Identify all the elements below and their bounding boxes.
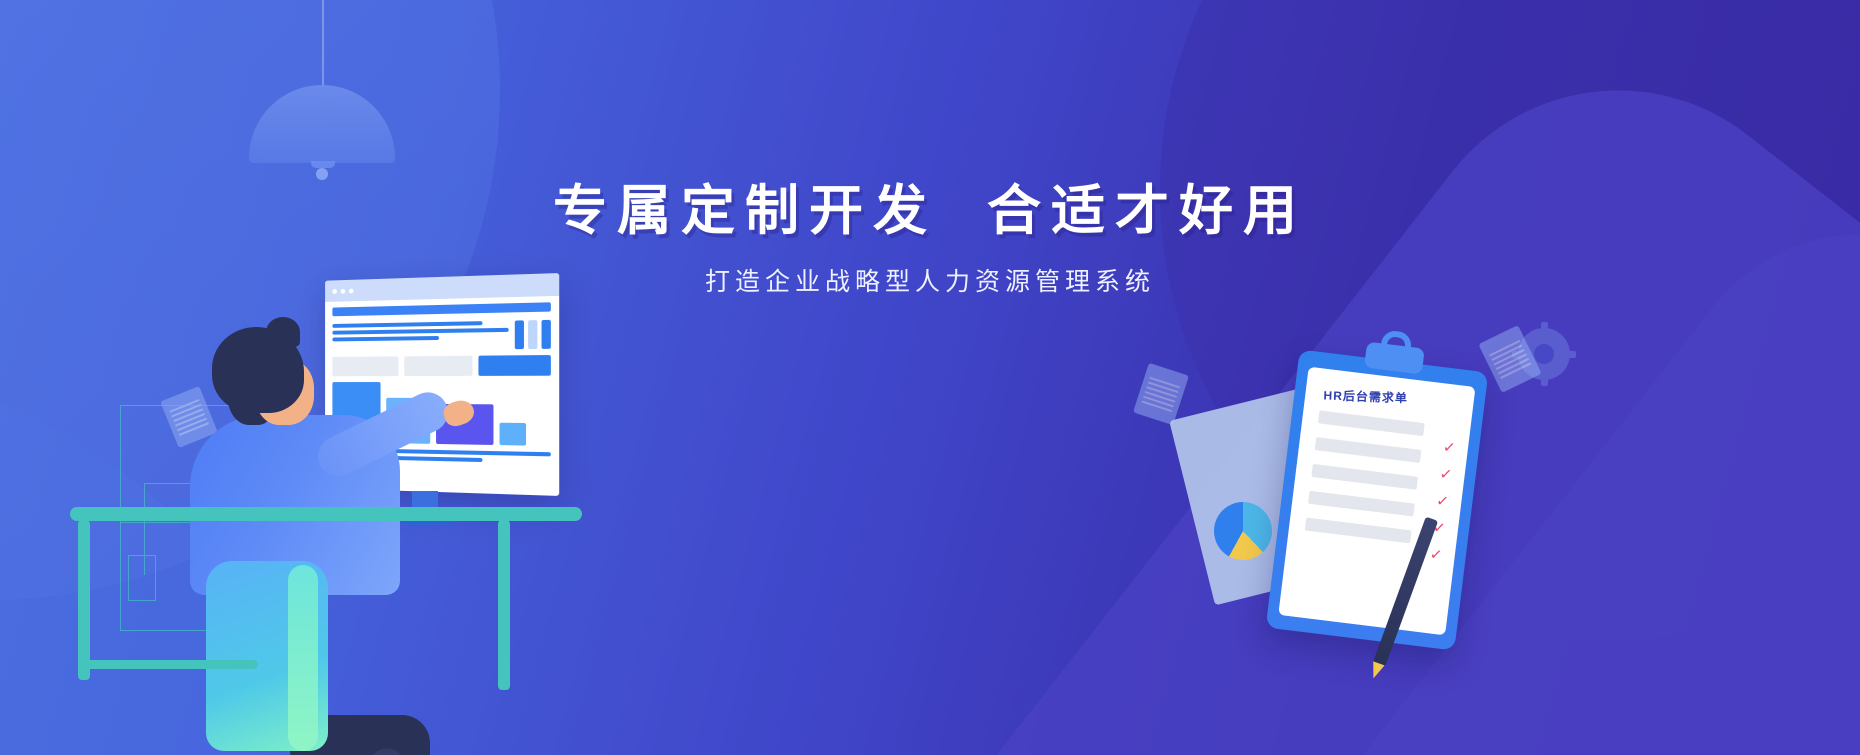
hero-banner: 专属定制开发 合适才好用 打造企业战略型人力资源管理系统	[0, 0, 1860, 755]
lamp-cord-icon	[322, 0, 324, 88]
desk-crossbar	[78, 660, 258, 669]
clipboard-row	[1305, 518, 1412, 544]
person-hair-tuft	[266, 317, 300, 347]
banner-headline: 专属定制开发 合适才好用	[0, 180, 1860, 244]
checkmark-icon: ✓	[1435, 493, 1452, 510]
person-figure	[180, 315, 480, 735]
chair-edge	[288, 565, 318, 751]
desk-leg-left	[78, 520, 90, 680]
clipboard-row	[1318, 410, 1425, 436]
clipboard-row	[1311, 464, 1418, 490]
banner-copy: 专属定制开发 合适才好用 打造企业战略型人力资源管理系统	[0, 180, 1860, 298]
clipboard-clamp-icon	[1364, 342, 1425, 375]
note-mid-icon	[1133, 363, 1189, 425]
checkmark-icon: ✓	[1429, 547, 1446, 564]
banner-subline: 打造企业战略型人力资源管理系统	[0, 262, 1860, 298]
illustration-hr-clipboard: HR后台需求单 ✓ ✓ ✓ ✓ ✓	[1190, 320, 1610, 720]
person-hand	[441, 397, 477, 429]
pencil-tip-icon	[1368, 661, 1385, 680]
lamp-bulb-icon	[316, 168, 328, 180]
checkmark-icon: ✓	[1442, 440, 1459, 457]
desk-leg-right	[498, 520, 510, 690]
checkmark-icon: ✓	[1439, 466, 1456, 483]
clipboard-title: HR后台需求单	[1323, 386, 1408, 406]
lamp-base-icon	[311, 161, 335, 168]
clipboard: HR后台需求单 ✓ ✓ ✓ ✓ ✓	[1266, 349, 1489, 650]
pie-chart-icon	[1214, 502, 1272, 560]
clipboard-row	[1315, 437, 1422, 463]
clipboard-page: HR后台需求单 ✓ ✓ ✓ ✓ ✓	[1278, 367, 1475, 636]
clipboard-row	[1308, 491, 1415, 517]
illustration-person-at-desk	[60, 255, 600, 755]
desk-surface	[70, 507, 582, 521]
